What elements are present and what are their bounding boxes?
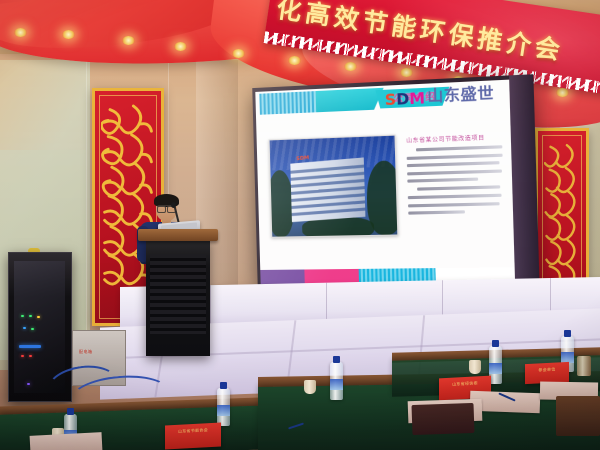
paper-cup xyxy=(304,380,316,394)
lectern-wood-top xyxy=(138,229,218,241)
bottle-label xyxy=(217,405,230,416)
ceiling-spotlight xyxy=(400,68,413,77)
conference-photo-scene: 化高效节能环保推介会 xyxy=(0,0,600,450)
logo-letter-m: M xyxy=(409,91,425,107)
ceiling-spotlight xyxy=(556,88,569,97)
presentation-slide: 公司介绍 S D M 山东盛世 SDM xyxy=(255,80,515,284)
rack-led xyxy=(31,328,34,330)
logo-subtext: 山东盛世 xyxy=(427,86,494,105)
ceiling-spotlight xyxy=(14,28,27,37)
water-bottle xyxy=(217,388,230,426)
sdm-logo: S D M 山东盛世 xyxy=(385,86,495,109)
slide-building-photo: SDM xyxy=(269,135,399,238)
lectern-slats xyxy=(150,254,206,334)
photo-building-sign: SDM xyxy=(296,155,309,162)
rack-led xyxy=(23,327,26,329)
ceiling-spotlight xyxy=(62,30,75,39)
bottle-label xyxy=(330,379,343,390)
ceiling-spotlight xyxy=(344,62,357,71)
bottle-cap xyxy=(564,330,571,337)
rack-led-strip xyxy=(19,345,41,348)
logo-letter-s: S xyxy=(385,92,397,108)
electrical-box-label: 配电箱 xyxy=(79,349,93,355)
led-projection-screen: 公司介绍 S D M 山东盛世 SDM xyxy=(252,74,539,288)
bottle-cap xyxy=(67,408,74,415)
microphone-icon xyxy=(171,202,176,208)
ceiling-spotlight xyxy=(174,42,187,51)
ceiling-spotlight xyxy=(288,56,301,65)
brochure xyxy=(30,432,103,450)
bottle-cap xyxy=(492,340,499,347)
slide-body-text xyxy=(406,145,506,219)
slide-header-bar: 公司介绍 S D M 山东盛世 xyxy=(255,80,510,118)
placard-text: 山东省经信委 xyxy=(442,380,488,388)
rack-led xyxy=(21,355,24,357)
table-name-placard: 山东省节能协会 xyxy=(165,423,221,450)
lectern xyxy=(146,238,210,356)
rack-led xyxy=(37,316,40,318)
rack-led xyxy=(29,355,32,357)
wall-seam xyxy=(86,60,87,360)
paper-cup xyxy=(469,360,481,374)
leather-folder xyxy=(556,396,600,436)
placard-text: 参会单位 xyxy=(528,366,566,374)
bottle-label xyxy=(489,363,502,374)
water-bottle xyxy=(330,362,343,400)
rack-led xyxy=(27,383,30,385)
slide-footer-purple xyxy=(260,270,304,284)
bottle-cap xyxy=(333,356,340,363)
photo-building: SDM xyxy=(290,157,365,222)
ceiling-spotlight xyxy=(122,36,135,45)
tea-jar xyxy=(577,356,591,376)
slide-header-stripes xyxy=(259,91,316,115)
slide-body-title: 山东省某公司节能改造项目 xyxy=(406,133,502,145)
rack-led xyxy=(29,315,32,317)
ceiling-spotlight xyxy=(232,49,245,58)
logo-letter-d: D xyxy=(396,92,410,108)
leather-folder xyxy=(411,403,474,435)
panel-scroll-ornament xyxy=(544,137,580,297)
rack-led xyxy=(21,315,24,317)
placard-text: 山东省节能协会 xyxy=(168,427,218,436)
bottle-cap xyxy=(220,382,227,389)
